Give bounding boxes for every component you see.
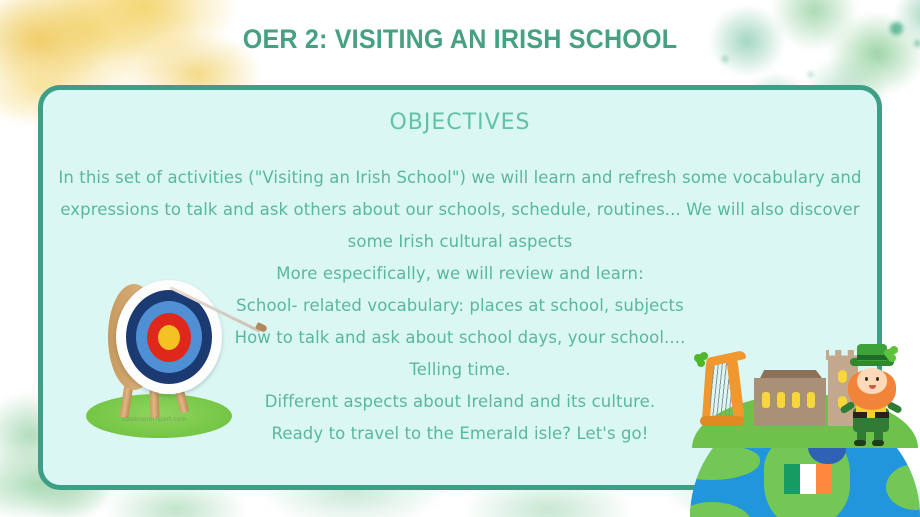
leprechaun-belt-buckle [867,412,875,418]
watercolor-dot [890,22,903,35]
leprechaun-hat-band [857,355,887,360]
shamrock-icon [694,352,710,368]
irish-scene-illustration [690,342,920,517]
page-title: OER 2: VISITING AN IRISH SCHOOL [32,24,888,55]
castle-window [777,392,785,408]
target-ring-navy [126,290,212,384]
target-bullseye [158,325,180,350]
castle-window [807,392,815,408]
flag-stripe-orange [816,464,832,494]
irish-flag-icon [784,464,832,494]
watercolor-dot [914,40,920,47]
objectives-paragraph-intro: In this set of activities ("Visiting an … [57,162,863,258]
objectives-line: In this set of activities ("Visiting an … [57,162,863,194]
harp-base [700,416,744,426]
objectives-line: some Irish cultural aspects [57,226,863,258]
leprechaun-shoe [872,440,884,446]
clipart-watermark: classroomclipart.com [122,416,186,423]
leprechaun-mouth [869,385,876,389]
globe-landmass [690,502,752,517]
leprechaun-icon [840,342,916,438]
castle-hall [754,378,826,426]
archery-target-illustration: classroomclipart.com [78,276,238,446]
castle-window [792,392,800,408]
objectives-heading: OBJECTIVES [43,110,877,135]
watercolor-dot [808,72,813,77]
target-ring-blue [136,301,202,373]
flag-stripe-green [784,464,800,494]
target-face-icon [116,280,222,394]
leprechaun-shoe [854,440,866,446]
castle-window [762,392,770,408]
objectives-line: expressions to talk and ask others about… [57,194,863,226]
leprechaun-face [857,368,887,394]
celtic-harp-icon [696,350,752,428]
globe-landmass [690,446,760,480]
globe-landmass [886,464,920,510]
watercolor-dot [722,56,728,62]
leprechaun-eye [876,377,879,381]
flag-stripe-white [800,464,816,494]
leprechaun-eye [865,377,868,381]
slide-canvas: OER 2: VISITING AN IRISH SCHOOL OBJECTIV… [0,0,920,517]
target-ring-red [147,313,191,362]
shamrock-icon [884,346,900,362]
